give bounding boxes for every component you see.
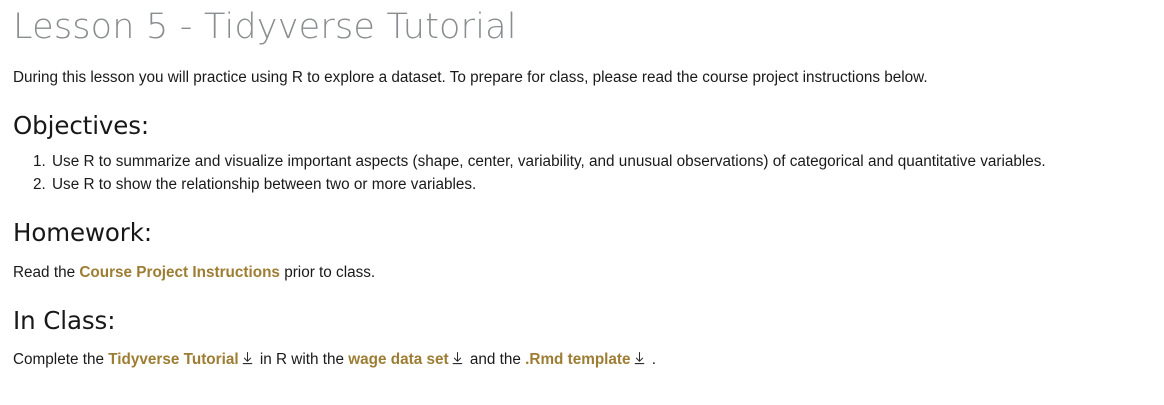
rmd-template-link[interactable]: .Rmd template [525, 351, 630, 368]
homework-text-after: prior to class. [280, 264, 375, 281]
homework-heading: Homework: [13, 218, 1151, 247]
in-class-text-mid-2: and the [466, 351, 526, 368]
homework-paragraph: Read the Course Project Instructions pri… [13, 262, 1151, 284]
objectives-list: Use R to summarize and visualize importa… [13, 150, 1151, 197]
download-icon[interactable] [632, 351, 647, 366]
objectives-heading: Objectives: [13, 111, 1151, 140]
in-class-paragraph: Complete the Tidyverse Tutorial in R wit… [13, 349, 1151, 371]
tidyverse-tutorial-link[interactable]: Tidyverse Tutorial [108, 351, 238, 368]
wage-data-set-link[interactable]: wage data set [348, 351, 448, 368]
list-item: Use R to summarize and visualize importa… [50, 150, 1151, 173]
course-project-instructions-link[interactable]: Course Project Instructions [79, 264, 280, 281]
download-icon[interactable] [240, 351, 255, 366]
download-icon[interactable] [450, 351, 465, 366]
page-title: Lesson 5 - Tidyverse Tutorial [13, 0, 1151, 47]
in-class-heading: In Class: [13, 306, 1151, 335]
homework-text-before: Read the [13, 264, 79, 281]
lesson-page: Lesson 5 - Tidyverse Tutorial During thi… [0, 0, 1164, 371]
in-class-text-mid-1: in R with the [256, 351, 349, 368]
list-item: Use R to show the relationship between t… [50, 173, 1151, 196]
in-class-text-start: Complete the [13, 351, 108, 368]
in-class-text-end: . [648, 351, 657, 368]
intro-paragraph: During this lesson you will practice usi… [13, 67, 1151, 89]
